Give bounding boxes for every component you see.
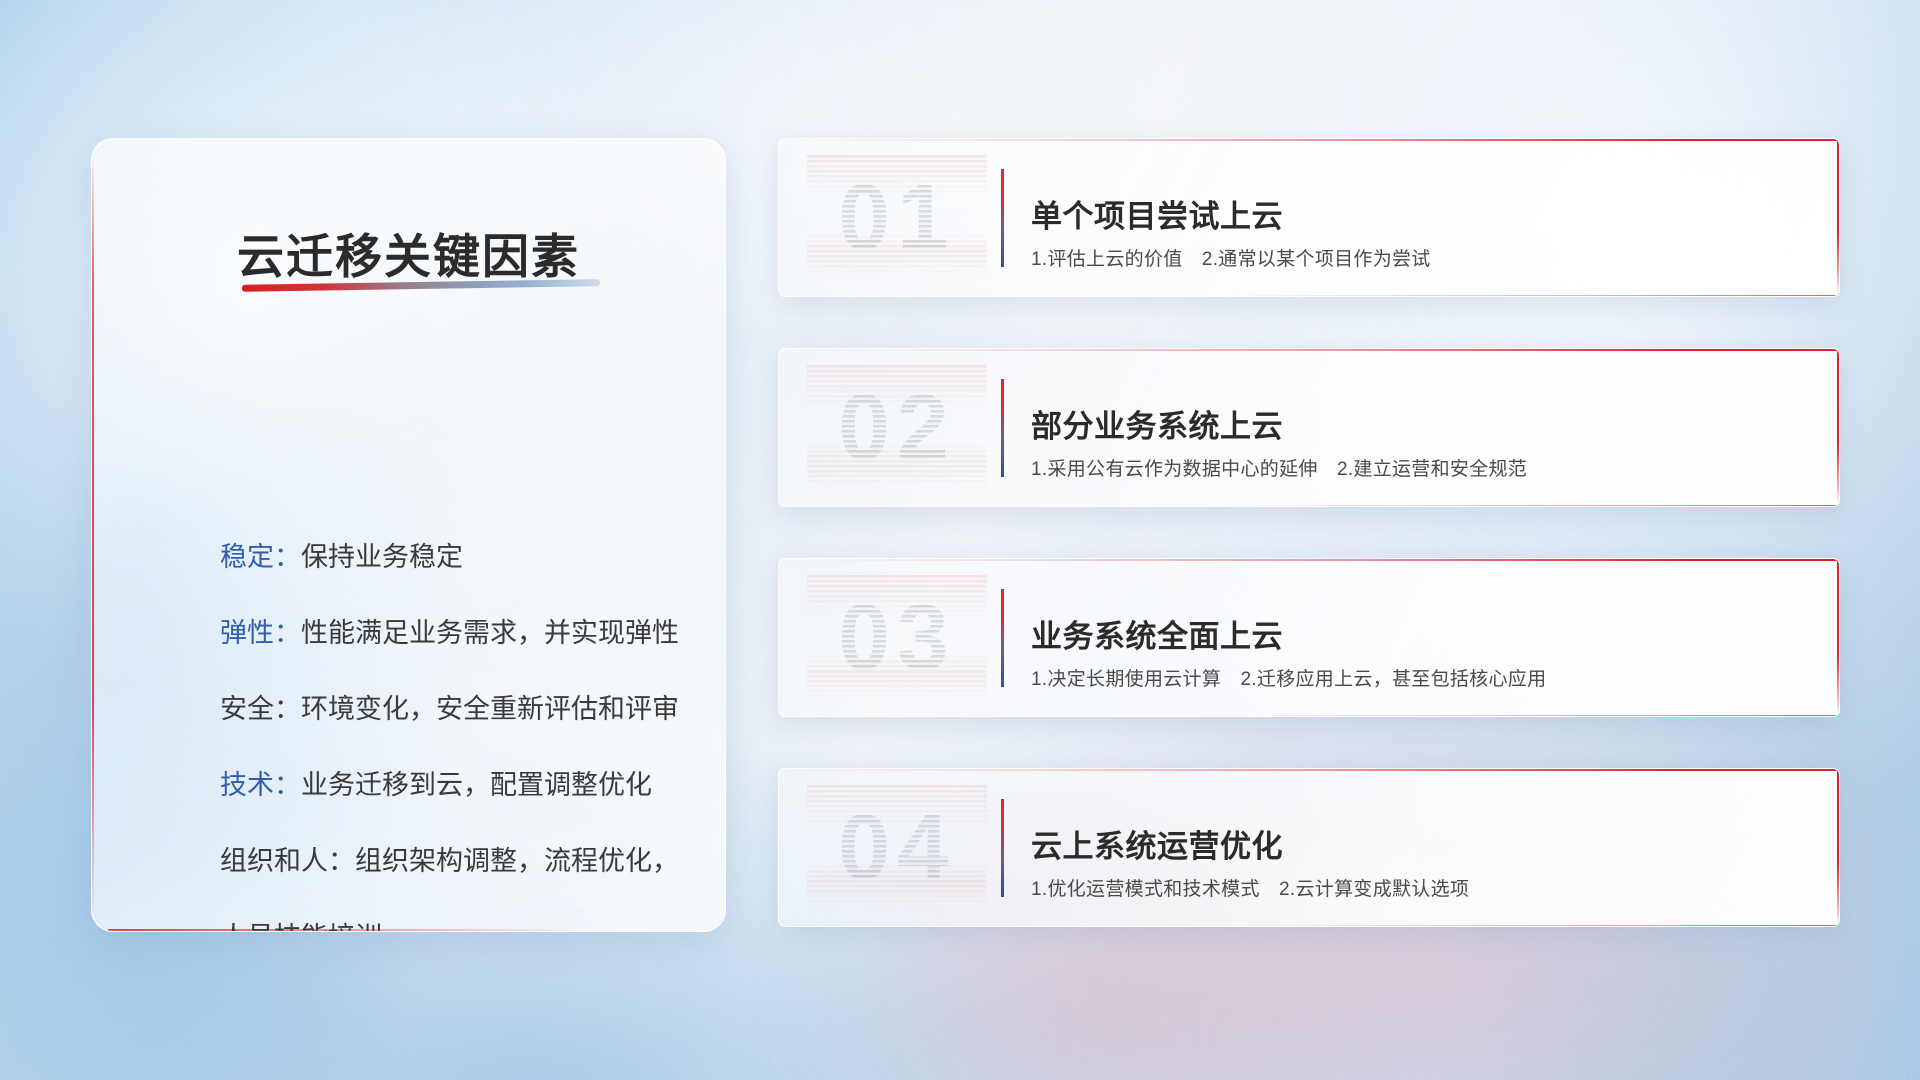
step-title: 部分业务系统上云 [1031,401,1283,446]
step-description: 1.优化运营模式和技术模式 2.云计算变成默认选项 [1031,874,1469,901]
list-item: 弹性：性能满足业务需求，并实现弹性 [220,595,685,671]
card-top-accent-line [779,349,1839,351]
key-factors-card: 云迁移关键因素 稳定：保持业务稳定 弹性：性能满足业务需求，并实现弹性 安全：环… [91,138,726,932]
card-top-accent-line [779,769,1839,771]
factor-text: 业务迁移到云，配置调整优化 [301,770,652,800]
step-divider-line [1001,379,1004,477]
list-item: 技术：业务迁移到云，配置调整优化 [220,747,685,823]
factor-text: 保持业务稳定 [301,542,463,572]
step-card-01[interactable]: 01 单个项目尝试上云 1.评估上云的价值 2.通常以某个项目作为尝试 [778,138,1840,297]
step-divider-line [1001,169,1004,267]
card-right-accent-line [1837,559,1839,716]
step-divider-line [1001,589,1004,687]
factor-label: 技术： [220,770,301,800]
card-top-accent-line [779,559,1839,561]
card-right-accent-line [1837,769,1839,926]
step-description: 1.评估上云的价值 2.通常以某个项目作为尝试 [1031,244,1431,271]
card-bottom-accent-line [1224,505,1839,506]
factor-label: 弹性： [220,618,301,648]
slide-stage: 云迁移关键因素 稳定：保持业务稳定 弹性：性能满足业务需求，并实现弹性 安全：环… [0,0,1920,1080]
factor-label: 稳定： [220,542,301,572]
step-description: 1.采用公有云作为数据中心的延伸 2.建立运营和安全规范 [1031,454,1527,481]
card-bottom-accent-line [1224,295,1839,296]
factor-label: 组织和人： [220,846,355,876]
factor-label: 安全： [220,694,301,724]
step-title: 单个项目尝试上云 [1031,191,1283,236]
step-description: 1.决定长期使用云计算 2.迁移应用上云，甚至包括核心应用 [1031,664,1546,691]
factor-text: 环境变化，安全重新评估和评审 [301,694,679,724]
step-number-watermark: 01 [807,155,987,279]
step-number-watermark: 04 [807,785,987,909]
step-number-watermark: 03 [807,575,987,699]
card-bottom-accent-line [1224,715,1839,716]
step-card-03[interactable]: 03 业务系统全面上云 1.决定长期使用云计算 2.迁移应用上云，甚至包括核心应… [778,558,1840,717]
list-item: 稳定：保持业务稳定 [220,519,685,595]
list-item: 安全：环境变化，安全重新评估和评审 [220,671,685,747]
card-right-accent-line [1837,139,1839,296]
factor-list: 稳定：保持业务稳定 弹性：性能满足业务需求，并实现弹性 安全：环境变化，安全重新… [220,519,685,932]
step-title: 业务系统全面上云 [1031,611,1283,656]
step-card-04[interactable]: 04 云上系统运营优化 1.优化运营模式和技术模式 2.云计算变成默认选项 [778,768,1840,927]
list-item: 组织和人：组织架构调整，流程优化，人员技能培训 [220,823,685,932]
card-bottom-accent-line [1224,925,1839,926]
step-number-watermark: 02 [807,365,987,489]
page-title: 云迁移关键因素 [92,218,725,287]
factor-text: 性能满足业务需求，并实现弹性 [301,618,679,648]
card-top-accent-line [779,139,1839,141]
step-title: 云上系统运营优化 [1031,821,1283,866]
step-card-02[interactable]: 02 部分业务系统上云 1.采用公有云作为数据中心的延伸 2.建立运营和安全规范 [778,348,1840,507]
step-divider-line [1001,799,1004,897]
card-right-accent-line [1837,349,1839,506]
